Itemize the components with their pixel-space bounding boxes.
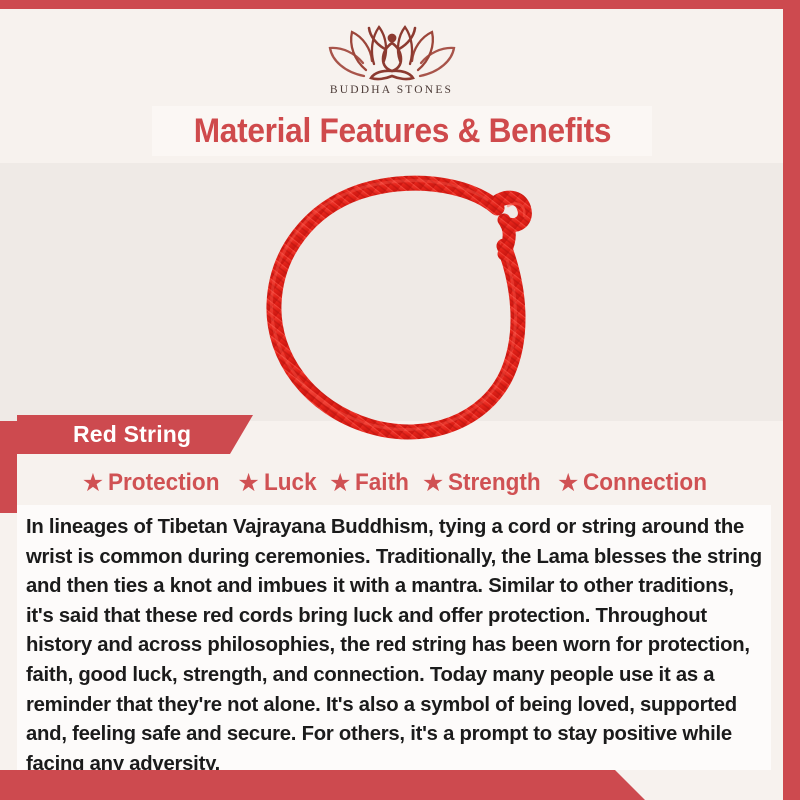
benefit-item: ★ Faith [329,469,414,497]
braided-red-string-bracelet-loop [232,168,562,448]
star-icon: ★ [237,471,259,496]
star-icon: ★ [329,471,351,496]
benefit-label: Connection [583,469,707,497]
right-accent-bar [783,0,800,800]
material-ribbon: Red String [17,415,253,454]
star-icon: ★ [82,471,104,496]
benefits-row: ★ Protection ★ Luck ★ Faith ★ Strength ★… [17,463,783,503]
material-name: Red String [73,421,191,448]
benefit-item: ★ Protection [82,469,230,497]
bottom-accent-bar [0,770,645,800]
brand-name: BUDDHA STONES [330,84,453,96]
brand-header: BUDDHA STONES [0,9,783,104]
material-features-infographic: BUDDHA STONES Material Features & Benefi… [0,0,800,800]
benefit-label: Protection [108,469,219,497]
brand-logo: BUDDHA STONES [324,20,460,96]
lotus-meditation-figure-icon [324,20,460,82]
title-band: Material Features & Benefits [152,106,652,156]
benefit-item: ★ Connection [557,469,718,497]
star-icon: ★ [422,471,444,496]
benefit-label: Strength [448,469,541,497]
page-title: Material Features & Benefits [193,112,610,151]
benefit-label: Luck [264,469,317,497]
star-icon: ★ [557,471,579,496]
benefit-item: ★ Strength [422,469,549,497]
top-accent-bar [0,0,800,9]
description-text: In lineages of Tibetan Vajrayana Buddhis… [26,512,763,778]
benefit-item: ★ Luck [237,469,321,497]
benefit-label: Faith [355,469,409,497]
